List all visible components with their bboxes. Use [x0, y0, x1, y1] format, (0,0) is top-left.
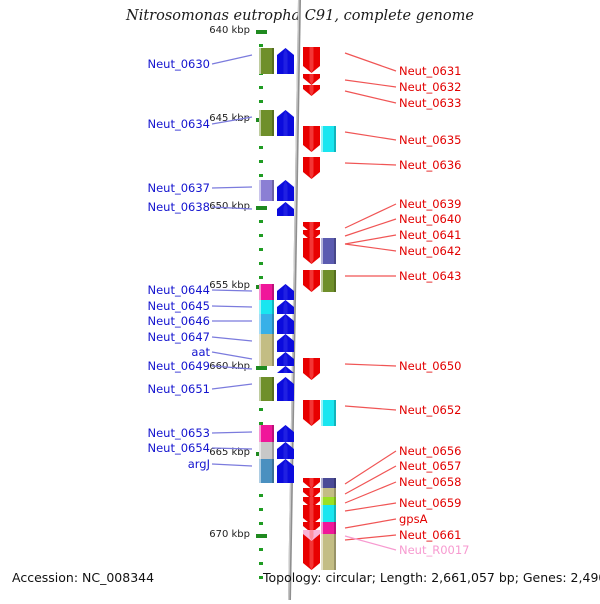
gene-label-neut_0640[interactable]: Neut_0640 — [399, 212, 462, 226]
ruler-tick-icon — [259, 44, 263, 47]
ruler-tick-icon — [256, 30, 267, 34]
ruler-tick-icon — [259, 146, 263, 149]
gene-label-neut_0637[interactable]: Neut_0637 — [110, 181, 210, 195]
leader-line — [212, 384, 252, 389]
gene-color-box[interactable] — [321, 400, 336, 426]
gene-label-neut_0641[interactable]: Neut_0641 — [399, 228, 462, 242]
box-highlight — [259, 377, 261, 401]
gene-label-neut_0642[interactable]: Neut_0642 — [399, 244, 462, 258]
ruler-label: 670 kbp — [202, 529, 250, 540]
leader-line — [345, 53, 396, 71]
arrow-up-icon[interactable] — [277, 300, 294, 314]
arrow-up-icon[interactable] — [277, 352, 294, 366]
gene-color-box[interactable] — [259, 284, 274, 300]
leader-line — [345, 163, 396, 165]
gene-label-neut_0646[interactable]: Neut_0646 — [110, 314, 210, 328]
leader-line — [345, 536, 396, 550]
gene-label-neut_0652[interactable]: Neut_0652 — [399, 403, 462, 417]
gene-color-box[interactable] — [259, 425, 274, 442]
box-highlight — [259, 352, 261, 366]
arrow-down-icon[interactable] — [303, 238, 320, 264]
arrow-up-icon[interactable] — [277, 180, 294, 201]
arrow-down-icon[interactable] — [303, 530, 320, 541]
box-highlight — [259, 300, 261, 314]
leader-line — [212, 55, 252, 64]
ruler-tick-icon — [259, 174, 263, 177]
leader-line — [345, 482, 396, 503]
leader-line — [345, 466, 396, 494]
box-highlight — [259, 425, 261, 442]
box-shadow — [272, 48, 274, 74]
gene-label-neut_0636[interactable]: Neut_0636 — [399, 158, 462, 172]
box-shadow — [334, 270, 336, 292]
box-highlight — [259, 180, 261, 201]
gene-label-neut_0647[interactable]: Neut_0647 — [110, 330, 210, 344]
box-highlight — [259, 459, 261, 483]
leader-line — [345, 406, 396, 410]
ruler-tick-icon — [256, 534, 267, 538]
gene-color-box[interactable] — [321, 238, 336, 264]
gene-color-box[interactable] — [259, 459, 274, 483]
box-shadow — [272, 180, 274, 201]
leader-line — [212, 337, 252, 341]
box-highlight — [321, 270, 323, 292]
ruler-tick-icon — [259, 408, 263, 411]
arrow-up-icon[interactable] — [277, 459, 294, 483]
gene-color-box[interactable] — [259, 48, 274, 74]
leader-line — [345, 244, 396, 251]
ruler-tick-icon — [256, 366, 267, 370]
gene-label-neut_0643[interactable]: Neut_0643 — [399, 269, 462, 283]
gene-color-box[interactable] — [259, 180, 274, 201]
gene-label-neut_0649[interactable]: Neut_0649 — [110, 359, 210, 373]
leader-line — [212, 352, 252, 359]
box-shadow — [334, 400, 336, 426]
leader-line — [345, 235, 396, 244]
leader-line — [212, 432, 252, 433]
genome-graphical-view: Nitrosomonas eutropha C91, complete geno… — [0, 0, 600, 600]
gene-label-neut_0651[interactable]: Neut_0651 — [110, 382, 210, 396]
leader-line — [212, 187, 252, 188]
gene-label-neut_r0017[interactable]: Neut_R0017 — [399, 543, 469, 557]
gene-label-neut_0633[interactable]: Neut_0633 — [399, 96, 462, 110]
box-highlight — [259, 110, 261, 136]
leader-line — [345, 364, 396, 366]
topology-text: Topology: circular; Length: 2,661,057 bp… — [263, 570, 600, 585]
box-highlight — [321, 238, 323, 264]
box-shadow — [334, 534, 336, 570]
box-shadow — [272, 314, 274, 334]
box-shadow — [272, 442, 274, 459]
ruler-tick-icon — [259, 562, 263, 565]
box-shadow — [334, 238, 336, 264]
box-shadow — [334, 126, 336, 152]
ruler-tick-icon — [259, 276, 263, 279]
box-shadow — [272, 352, 274, 366]
box-shadow — [272, 110, 274, 136]
box-highlight — [259, 284, 261, 300]
arrow-up-icon[interactable] — [277, 366, 294, 373]
gene-label-neut_0657[interactable]: Neut_0657 — [399, 459, 462, 473]
leader-line — [345, 519, 396, 528]
ruler-tick-icon — [259, 160, 263, 163]
arrow-down-icon[interactable] — [303, 126, 320, 152]
leader-line — [212, 306, 252, 307]
ruler-tick-icon — [259, 248, 263, 251]
gene-label-neut_0659[interactable]: Neut_0659 — [399, 496, 462, 510]
arrow-up-icon[interactable] — [277, 314, 294, 334]
gene-label-neut_0644[interactable]: Neut_0644 — [110, 283, 210, 297]
box-shadow — [272, 284, 274, 300]
ruler-tick-icon — [259, 86, 263, 89]
gene-label-gpsa[interactable]: gpsA — [399, 512, 427, 526]
gene-color-box[interactable] — [259, 110, 274, 136]
gene-label-neut_0630[interactable]: Neut_0630 — [110, 57, 210, 71]
gene-label-neut_0654[interactable]: Neut_0654 — [110, 441, 210, 455]
gene-color-box[interactable] — [259, 352, 274, 366]
leader-line — [345, 204, 396, 228]
gene-label-neut_0653[interactable]: Neut_0653 — [110, 426, 210, 440]
arrow-down-icon[interactable] — [303, 74, 320, 85]
leader-line — [345, 132, 396, 140]
arrow-up-icon[interactable] — [277, 377, 294, 401]
arrow-down-icon[interactable] — [303, 47, 320, 73]
box-shadow — [272, 334, 274, 352]
gene-label-neut_0661[interactable]: Neut_0661 — [399, 528, 462, 542]
box-highlight — [321, 126, 323, 152]
arrow-up-icon[interactable] — [277, 202, 294, 216]
gene-color-box[interactable] — [259, 300, 274, 314]
gene-label-neut_0658[interactable]: Neut_0658 — [399, 475, 462, 489]
leader-line — [345, 219, 396, 236]
gene-label-neut_0634[interactable]: Neut_0634 — [110, 117, 210, 131]
arrow-up-icon[interactable] — [277, 48, 294, 74]
box-highlight — [321, 534, 323, 570]
box-shadow — [272, 459, 274, 483]
gene-color-box[interactable] — [259, 442, 274, 459]
gene-label-neut_0645[interactable]: Neut_0645 — [110, 299, 210, 313]
arrow-down-icon[interactable] — [303, 157, 320, 179]
box-highlight — [259, 334, 261, 352]
box-shadow — [272, 377, 274, 401]
leader-line — [212, 464, 252, 466]
gene-label-neut_0638[interactable]: Neut_0638 — [110, 200, 210, 214]
leader-line — [345, 503, 396, 511]
arrow-up-icon[interactable] — [277, 442, 294, 459]
arrow-down-icon[interactable] — [303, 400, 320, 426]
gene-label-neut_0635[interactable]: Neut_0635 — [399, 133, 462, 147]
gene-label-neut_0631[interactable]: Neut_0631 — [399, 64, 462, 78]
arrow-up-icon[interactable] — [277, 334, 294, 352]
gene-label-neut_0632[interactable]: Neut_0632 — [399, 80, 462, 94]
arrow-up-icon[interactable] — [277, 425, 294, 442]
ruler-tick-icon — [259, 262, 263, 265]
gene-color-box[interactable] — [259, 377, 274, 401]
accession-text: Accession: NC_008344 — [12, 570, 154, 585]
ruler-tick-icon — [259, 508, 263, 511]
arrow-up-icon[interactable] — [277, 110, 294, 136]
leader-line — [345, 451, 396, 484]
ruler-tick-icon — [259, 220, 263, 223]
arrow-down-icon[interactable] — [303, 270, 320, 292]
gene-label-argj[interactable]: argJ — [110, 457, 210, 471]
box-shadow — [272, 425, 274, 442]
leader-line — [345, 80, 396, 87]
leader-line — [345, 535, 396, 540]
box-highlight — [259, 314, 261, 334]
gene-label-aat[interactable]: aat — [110, 345, 210, 359]
gene-color-box[interactable] — [321, 270, 336, 292]
gene-color-box[interactable] — [259, 314, 274, 334]
ruler-tick-icon — [256, 206, 267, 210]
ruler-tick-icon — [259, 100, 263, 103]
box-shadow — [272, 300, 274, 314]
gene-color-box[interactable] — [321, 126, 336, 152]
arrow-down-icon[interactable] — [303, 358, 320, 380]
ruler-tick-icon — [259, 234, 263, 237]
ruler-tick-icon — [259, 548, 263, 551]
gene-color-box[interactable] — [259, 334, 274, 352]
gene-label-neut_0650[interactable]: Neut_0650 — [399, 359, 462, 373]
box-highlight — [259, 442, 261, 459]
box-highlight — [321, 400, 323, 426]
ruler-label: 640 kbp — [202, 25, 250, 36]
gene-label-neut_0656[interactable]: Neut_0656 — [399, 444, 462, 458]
box-highlight — [259, 48, 261, 74]
arrow-up-icon[interactable] — [277, 284, 294, 300]
gene-label-neut_0639[interactable]: Neut_0639 — [399, 197, 462, 211]
ruler-tick-icon — [259, 522, 263, 525]
gene-color-box[interactable] — [321, 534, 336, 570]
leader-line — [345, 91, 396, 103]
arrow-down-icon[interactable] — [303, 85, 320, 96]
ruler-tick-icon — [259, 494, 263, 497]
